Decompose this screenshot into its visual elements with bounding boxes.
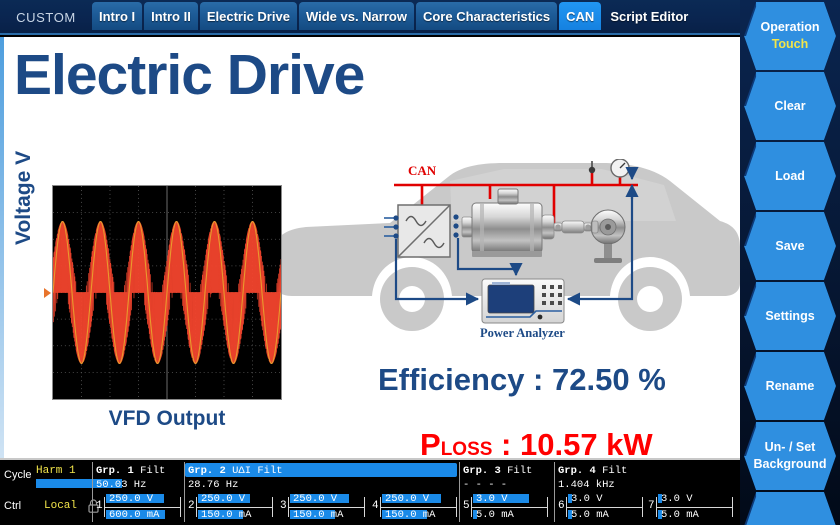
can-bus-label: CAN bbox=[408, 163, 437, 178]
sidebar-button-un-set[interactable]: Un- / SetBackground bbox=[744, 422, 836, 490]
channel-axis-right bbox=[642, 497, 643, 517]
channel-number: 5 bbox=[463, 500, 470, 512]
channel-axis-line bbox=[380, 507, 456, 508]
channel-voltage-value: 250.0 V bbox=[293, 493, 337, 505]
tab-wide-vs-narrow[interactable]: Wide vs. Narrow bbox=[299, 2, 414, 30]
group-header[interactable]: Grp. 4 Filt bbox=[558, 465, 627, 477]
group-name: Grp. 2 bbox=[188, 465, 226, 477]
channel-1[interactable]: 1250.0 V600.0 mA bbox=[96, 492, 182, 522]
sensor-icon bbox=[589, 161, 595, 173]
group-filter: Filt bbox=[140, 465, 165, 477]
group-frequency: - - - - bbox=[463, 479, 507, 491]
channel-axis-right bbox=[364, 497, 365, 517]
sidebar-button-label: Rename bbox=[766, 378, 815, 395]
channel-voltage-value: 250.0 V bbox=[385, 493, 429, 505]
sidebar-button-label: Operation bbox=[760, 19, 819, 36]
channel-number: 3 bbox=[280, 500, 287, 512]
powertrain-schematic: CAN bbox=[380, 159, 650, 344]
group-frequency: 1.404 kHz bbox=[558, 479, 615, 491]
tab-bar: CUSTOM Intro IIntro IIElectric DriveWide… bbox=[0, 0, 740, 35]
channel-voltage-value: 3.0 V bbox=[571, 493, 603, 505]
inverter-icon bbox=[384, 205, 450, 257]
group-name: Grp. 4 bbox=[558, 465, 596, 477]
tabs-container: Intro IIntro IIElectric DriveWide vs. Na… bbox=[92, 0, 697, 30]
channel-axis-line bbox=[471, 507, 547, 508]
ctrl-value[interactable]: Local bbox=[44, 500, 77, 512]
group-header[interactable]: Grp. 1 Filt bbox=[96, 465, 165, 477]
page-title: Electric Drive bbox=[14, 47, 364, 104]
channel-number: 1 bbox=[96, 500, 103, 512]
channel-3[interactable]: 3250.0 V150.0 mA bbox=[280, 492, 366, 522]
scope-x-axis-label: VFD Output bbox=[52, 407, 282, 431]
channel-4[interactable]: 4250.0 V150.0 mA bbox=[372, 492, 458, 522]
group-filter: Filt bbox=[507, 465, 532, 477]
motor-icon bbox=[462, 189, 554, 257]
group-frequency: 28.76 Hz bbox=[188, 479, 238, 491]
channel-current-value: 600.0 mA bbox=[109, 509, 159, 521]
channel-current-value: 5.0 mA bbox=[571, 509, 609, 521]
sidebar-button-save[interactable]: Save bbox=[744, 212, 836, 280]
group-header[interactable]: Grp. 3 Filt bbox=[463, 465, 532, 477]
channel-axis-line bbox=[196, 507, 272, 508]
group-header[interactable]: Grp. 2 UΔI Filt bbox=[188, 465, 283, 477]
efficiency-label: Efficiency : bbox=[378, 362, 552, 397]
ploss-subscript: LOSS bbox=[441, 439, 493, 458]
channel-current-value: 150.0 mA bbox=[385, 509, 435, 521]
channel-axis-line bbox=[288, 507, 364, 508]
application-window: CUSTOM Intro IIntro IIElectric DriveWide… bbox=[0, 0, 840, 525]
tab-intro-ii[interactable]: Intro II bbox=[144, 2, 198, 30]
power-analyzer-icon bbox=[482, 279, 564, 323]
sidebar-button-label: Clear bbox=[774, 98, 805, 115]
tab-intro-i[interactable]: Intro I bbox=[92, 2, 142, 30]
channel-6[interactable]: 63.0 V5.0 mA bbox=[558, 492, 644, 522]
sidebar-button-label: Save bbox=[775, 238, 804, 255]
channel-axis-right bbox=[547, 497, 548, 517]
sidebar-button-load[interactable]: Load bbox=[744, 142, 836, 210]
sidebar-button-label: Settings bbox=[765, 308, 814, 325]
status-separator bbox=[184, 462, 185, 522]
group-mode: UΔI bbox=[232, 465, 251, 477]
status-separator bbox=[554, 462, 555, 522]
custom-label: CUSTOM bbox=[0, 0, 92, 35]
cycle-value[interactable]: Harm 1 bbox=[36, 465, 76, 477]
status-separator bbox=[459, 462, 460, 522]
channel-2[interactable]: 2250.0 V150.0 mA bbox=[188, 492, 274, 522]
tab-can[interactable]: CAN bbox=[559, 2, 601, 30]
group-frequency: 50.03 Hz bbox=[96, 479, 146, 491]
differential-icon bbox=[591, 210, 625, 263]
sidebar-button-label: Load bbox=[775, 168, 805, 185]
sidebar-button-settings[interactable]: Settings bbox=[744, 282, 836, 350]
sidebar-button-clear[interactable]: Clear bbox=[744, 72, 836, 140]
ploss-label: P bbox=[420, 427, 441, 458]
sidebar-button-blank[interactable] bbox=[744, 492, 836, 525]
efficiency-readout: Efficiency : 72.50 % bbox=[378, 362, 666, 398]
sidebar-button-frame bbox=[744, 492, 836, 525]
channel-axis-line bbox=[566, 507, 642, 508]
sidebar-button-operation[interactable]: OperationTouch bbox=[744, 2, 836, 70]
inverter-output-terminals bbox=[453, 214, 458, 237]
cycle-label: Cycle bbox=[4, 469, 32, 481]
group-filter: Filt bbox=[257, 465, 282, 477]
status-bar: Cycle Harm 1 Ctrl Local Grp. 1 Filt50.03… bbox=[0, 458, 740, 525]
sidebar: OperationTouchClearLoadSaveSettingsRenam… bbox=[740, 0, 840, 525]
channel-number: 6 bbox=[558, 500, 565, 512]
channel-voltage-value: 3.0 V bbox=[661, 493, 693, 505]
gauge-icon bbox=[611, 159, 629, 177]
waveform-plot bbox=[53, 186, 281, 399]
channel-axis-line bbox=[104, 507, 180, 508]
tab-script-editor[interactable]: Script Editor bbox=[603, 2, 695, 30]
channel-voltage-value: 250.0 V bbox=[201, 493, 245, 505]
power-loss-readout: PLOSS : 10.57 kW bbox=[420, 427, 653, 458]
group-name: Grp. 1 bbox=[96, 465, 134, 477]
scope-display[interactable] bbox=[52, 185, 282, 400]
ctrl-label: Ctrl bbox=[4, 500, 21, 512]
power-analyzer-label: Power Analyzer bbox=[480, 326, 565, 340]
scope-y-axis-label: Voltage V bbox=[12, 125, 36, 245]
status-separator bbox=[92, 462, 93, 522]
channel-voltage-value: 3.0 V bbox=[476, 493, 508, 505]
channel-number: 7 bbox=[648, 500, 655, 512]
scope-trigger-marker bbox=[44, 288, 51, 298]
efficiency-value: 72.50 % bbox=[552, 362, 666, 397]
status-bar-rule bbox=[0, 458, 740, 460]
group-name: Grp. 3 bbox=[463, 465, 501, 477]
sidebar-button-sublabel: Touch bbox=[772, 36, 809, 53]
sidebar-button-sublabel: Background bbox=[754, 456, 827, 473]
channel-voltage-value: 250.0 V bbox=[109, 493, 153, 505]
tab-bar-underline bbox=[0, 33, 740, 35]
channel-number: 2 bbox=[188, 500, 195, 512]
channel-current-value: 5.0 mA bbox=[476, 509, 514, 521]
tab-electric-drive[interactable]: Electric Drive bbox=[200, 2, 297, 30]
channel-axis-right bbox=[456, 497, 457, 517]
channel-number: 4 bbox=[372, 500, 379, 512]
channel-current-value: 5.0 mA bbox=[661, 509, 699, 521]
channel-7[interactable]: 73.0 V5.0 mA bbox=[648, 492, 734, 522]
main-canvas: Electric Drive bbox=[0, 37, 740, 458]
channel-axis-right bbox=[272, 497, 273, 517]
group-filter: Filt bbox=[602, 465, 627, 477]
tab-core-characteristics[interactable]: Core Characteristics bbox=[416, 2, 557, 30]
ploss-value: 10.57 kW bbox=[520, 427, 653, 458]
canvas-accent-stripe bbox=[0, 37, 4, 458]
channel-5[interactable]: 53.0 V5.0 mA bbox=[463, 492, 549, 522]
driveshaft-icon bbox=[554, 221, 592, 233]
channel-axis-line bbox=[656, 507, 732, 508]
channel-axis-right bbox=[180, 497, 181, 517]
ploss-separator: : bbox=[492, 427, 520, 458]
sidebar-button-label: Un- / Set bbox=[765, 439, 816, 456]
scope-panel: Voltage V VFD Output bbox=[14, 185, 284, 445]
channel-current-value: 150.0 mA bbox=[293, 509, 343, 521]
channel-axis-right bbox=[732, 497, 733, 517]
channel-current-value: 150.0 mA bbox=[201, 509, 251, 521]
sidebar-button-rename[interactable]: Rename bbox=[744, 352, 836, 420]
